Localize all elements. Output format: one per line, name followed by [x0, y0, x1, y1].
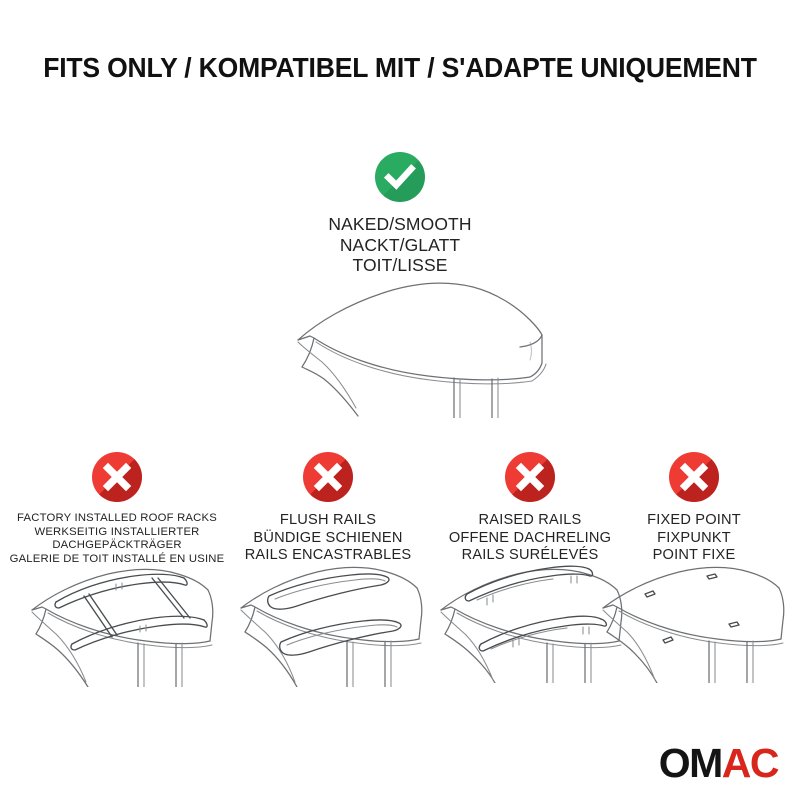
label-en: FIXED POINT: [620, 512, 768, 530]
car-roof-fixed-point-illustration: [589, 548, 799, 683]
label-en: NAKED/SMOOTH: [250, 214, 550, 235]
check-mark-glyph: [375, 152, 425, 202]
label-de: NACKT/GLATT: [250, 235, 550, 256]
label-de: OFFENE DACHRELING: [430, 530, 630, 548]
label-en: RAISED RAILS: [430, 512, 630, 530]
label-de: FIXPUNKT: [620, 530, 768, 548]
car-roof-naked-smooth-illustration: [268, 278, 568, 418]
logo-text-accent: AC: [722, 740, 778, 786]
label-de-line1: WERKSEITIG INSTALLIERTER: [0, 526, 234, 540]
x-circle-icon: [669, 452, 719, 502]
x-circle-icon: [303, 452, 353, 502]
compatible-roof-type-caption: NAKED/SMOOTH NACKT/GLATT TOIT/LISSE: [250, 214, 550, 276]
label-de: BÜNDIGE SCHIENEN: [228, 530, 428, 548]
omac-logo: OMAC: [659, 743, 778, 784]
incompatible-roof-types-row: FACTORY INSTALLED ROOF RACKS WERKSEITIG …: [0, 452, 800, 702]
incompatible-item-factory-installed-roof-racks: FACTORY INSTALLED ROOF RACKS WERKSEITIG …: [0, 452, 234, 566]
incompatible-item-fixed-point: FIXED POINT FIXPUNKT POINT FIXE: [620, 452, 768, 565]
x-mark-glyph: [669, 452, 719, 502]
car-roof-flush-rails-illustration: [223, 552, 433, 687]
x-mark-glyph: [92, 452, 142, 502]
x-circle-icon: [92, 452, 142, 502]
car-roof-factory-rack-illustration: [12, 552, 222, 687]
incompatible-item-flush-rails: FLUSH RAILS BÜNDIGE SCHIENEN RAILS ENCAS…: [228, 452, 428, 565]
logo-text-dark: OM: [659, 740, 722, 786]
x-mark-glyph: [505, 452, 555, 502]
label-de-line2: DACHGEPÄCKTRÄGER: [0, 539, 234, 553]
label-en: FACTORY INSTALLED ROOF RACKS: [0, 512, 234, 526]
compatible-roof-type-block: NAKED/SMOOTH NACKT/GLATT TOIT/LISSE: [250, 152, 550, 276]
label-en: FLUSH RAILS: [228, 512, 428, 530]
x-mark-glyph: [303, 452, 353, 502]
x-circle-icon: [505, 452, 555, 502]
label-fr: TOIT/LISSE: [250, 255, 550, 276]
page-title: FITS ONLY / KOMPATIBEL MIT / S'ADAPTE UN…: [14, 52, 786, 84]
check-circle-icon: [375, 152, 425, 202]
